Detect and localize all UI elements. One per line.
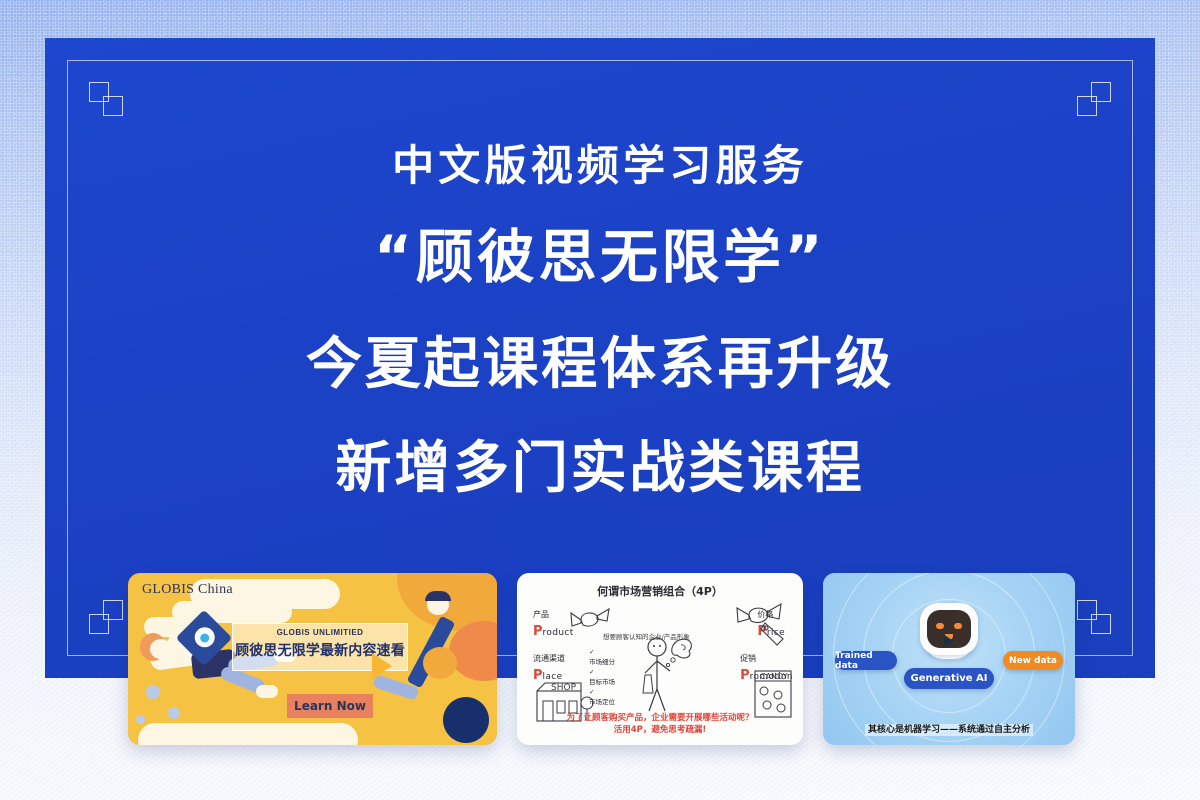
card2-footer-line-1: 为了让顾客购买产品，企业需要开展哪些活动呢？ — [517, 712, 803, 725]
robot-head-group — [920, 603, 978, 655]
card3-caption: 其核心是机器学习——系统通过自主分析 — [823, 722, 1075, 735]
decor-dot-b — [168, 707, 180, 719]
pill-trained-data[interactable]: Trained data — [835, 651, 897, 670]
candy-sketch-product — [569, 607, 611, 633]
robot-head — [920, 603, 978, 655]
card1-brand-label: GLOBIS China — [142, 582, 233, 598]
robot-eye-left — [936, 623, 944, 629]
decor-cloud-bottom — [138, 723, 358, 745]
headline-line-4: 新增多门实战类课程 — [45, 437, 1155, 501]
card-marketing-4p[interactable]: 何谓市场营销组合（4P） 产品 Product 价格 Price 流通渠道 Pl… — [517, 573, 803, 745]
illustration-person-left-shoe-b — [256, 685, 278, 698]
card1-learn-now-button[interactable]: Learn Now — [287, 694, 373, 718]
person-thinking-sketch — [637, 635, 695, 715]
pill-new-data[interactable]: New data — [1003, 651, 1063, 670]
decor-dot-c — [136, 715, 145, 724]
corner-ornament-top-right — [1065, 82, 1111, 112]
pill-generative-ai[interactable]: Generative AI — [904, 668, 994, 689]
shop-label: SHOP — [551, 683, 577, 693]
card-globis-unlimited[interactable]: GLOBIS China GLOBIS UNLIMITIED 顾彼思无限学最新内… — [128, 573, 497, 745]
card1-arrow-icon — [372, 653, 392, 679]
robot-eye-right — [954, 623, 962, 629]
headline-line-3: 今夏起课程体系再升级 — [45, 333, 1155, 397]
decor-dot-a — [146, 685, 160, 699]
candy-price-tag-sketch — [733, 601, 795, 649]
card1-english-title: GLOBIS UNLIMITIED — [233, 628, 407, 637]
card-generative-ai[interactable]: Trained data New data Generative AI 其核心是… — [823, 573, 1075, 745]
play-icon[interactable] — [945, 635, 954, 647]
candy-label: CANDY — [760, 672, 788, 681]
headline-line-2: “顾彼思无限学” — [45, 224, 1155, 291]
illustration-person-right-headphones — [425, 591, 451, 601]
card2-item-product: 产品 Product — [533, 609, 574, 639]
poster-canvas: 中文版视频学习服务 “顾彼思无限学” 今夏起课程体系再升级 新增多门实战类课程 … — [0, 0, 1200, 800]
card2-title: 何谓市场营销组合（4P） — [517, 583, 803, 599]
thumbnail-card-row: GLOBIS China GLOBIS UNLIMITIED 顾彼思无限学最新内… — [0, 573, 1200, 753]
headline-group: 中文版视频学习服务 “顾彼思无限学” 今夏起课程体系再升级 新增多门实战类课程 — [45, 142, 1155, 502]
card2-check-item-1: ✓ 市场细分 — [589, 647, 615, 667]
card2-footer-text: 为了让顾客购买产品，企业需要开展哪些活动呢？ 活用4P，避免思考疏漏! — [517, 712, 803, 738]
decor-navy-ball — [443, 697, 489, 743]
illustration-person-right-hip — [423, 647, 457, 679]
card3-caption-text: 其核心是机器学习——系统通过自主分析 — [865, 724, 1033, 736]
corner-ornament-top-left — [89, 82, 135, 112]
card2-footer-line-2: 活用4P，避免思考疏漏! — [517, 724, 803, 737]
headline-line-1: 中文版视频学习服务 — [45, 142, 1155, 190]
